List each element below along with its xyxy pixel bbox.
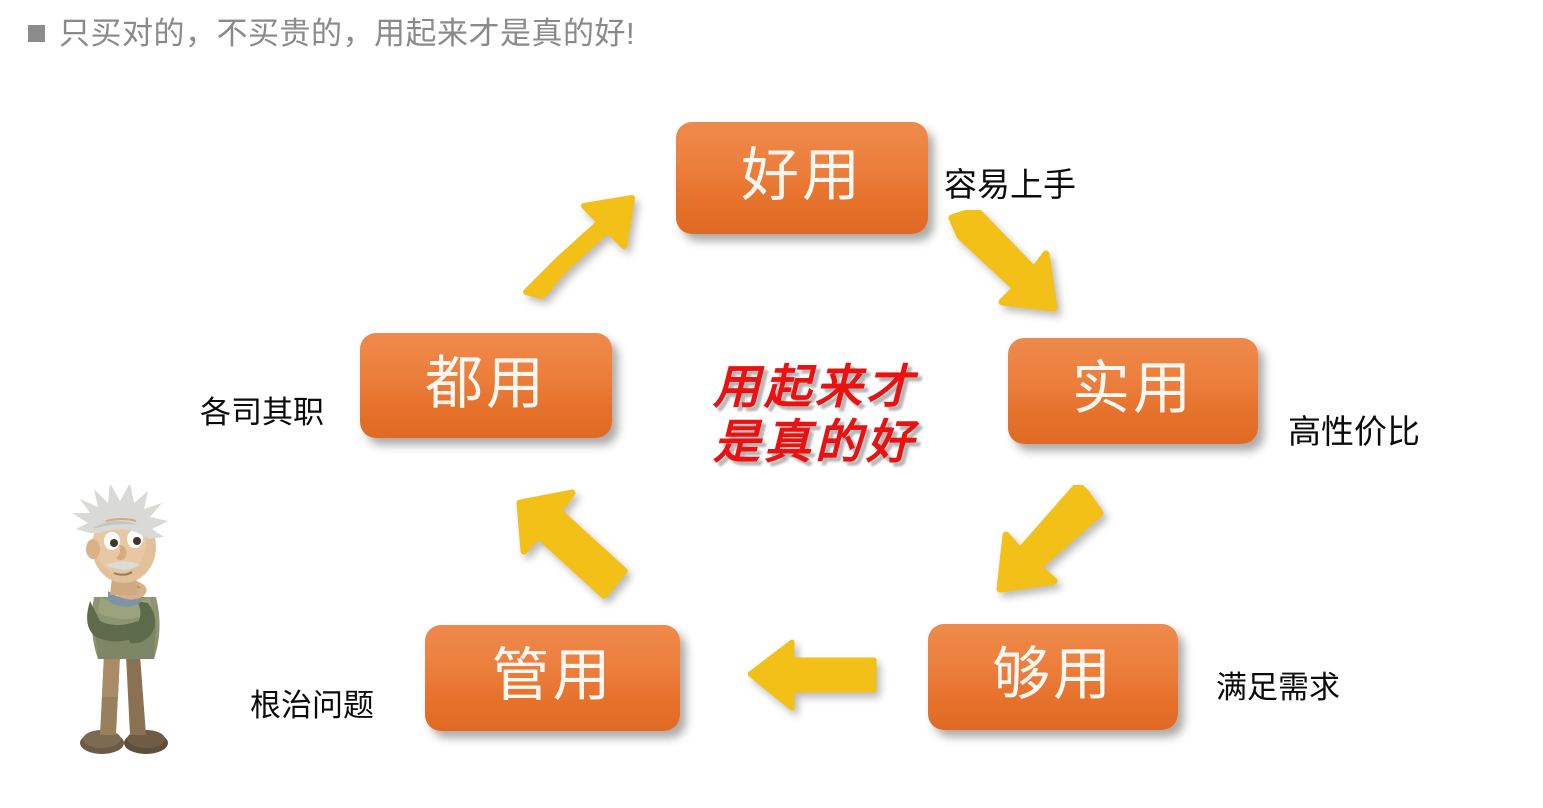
caption-duyong: 各司其职: [200, 397, 324, 428]
node-haoyong[interactable]: 好用: [676, 122, 928, 234]
header-text: 只买对的，不买贵的，用起来才是真的好!: [59, 18, 635, 49]
arrow-down-left-icon: [990, 485, 1110, 610]
arrow-down-right-icon: [942, 210, 1077, 325]
node-guanyong[interactable]: 管用: [425, 625, 680, 731]
arrow-left-icon: [748, 636, 878, 721]
thinking-old-man-character: [60, 485, 190, 765]
caption-haoyong: 容易上手: [944, 168, 1076, 201]
caption-gouyong: 满足需求: [1216, 672, 1340, 703]
node-gouyong[interactable]: 够用: [928, 624, 1178, 730]
arrow-up-left-icon: [512, 485, 637, 610]
caption-shiyong: 高性价比: [1288, 415, 1420, 448]
arrow-up-right-icon: [520, 192, 650, 307]
node-haoyong-label: 好用: [741, 147, 863, 209]
center-slogan-line-1: 用起来才: [690, 360, 940, 415]
node-gouyong-label: 够用: [992, 646, 1114, 708]
center-slogan: 用起来才 是真的好: [690, 360, 940, 471]
node-shiyong-label: 实用: [1072, 360, 1194, 422]
slide-header: 只买对的，不买贵的，用起来才是真的好!: [28, 18, 635, 49]
center-slogan-line-2: 是真的好: [690, 415, 940, 470]
slide-canvas: 只买对的，不买贵的，用起来才是真的好! 用起来才 是真的好 好用 实用 够用 管…: [0, 0, 1543, 808]
caption-guanyong: 根治问题: [250, 690, 374, 721]
node-shiyong[interactable]: 实用: [1008, 338, 1258, 444]
node-guanyong-label: 管用: [491, 647, 613, 709]
node-duyong-label: 都用: [425, 355, 547, 417]
node-duyong[interactable]: 都用: [360, 333, 612, 438]
square-bullet-icon: [28, 25, 45, 42]
